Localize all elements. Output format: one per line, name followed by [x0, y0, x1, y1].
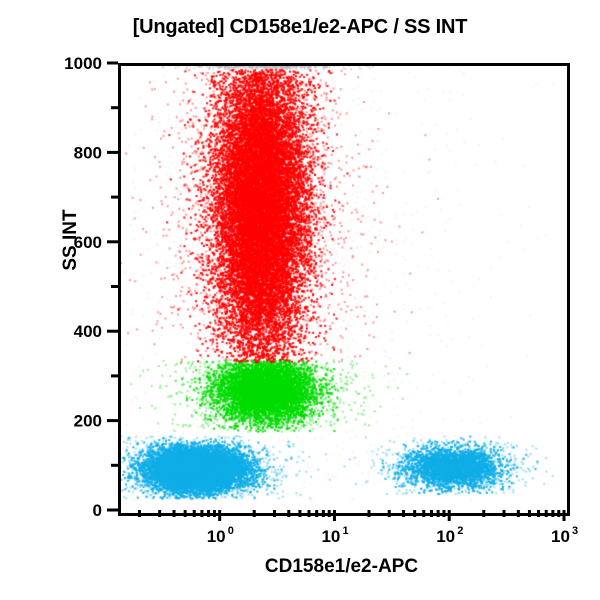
- axes-ticks-and-labels: 02004006008001000 100101102103: [0, 0, 600, 600]
- y-axis-tick-labels: 02004006008001000: [64, 54, 102, 520]
- svg-text:600: 600: [74, 233, 102, 252]
- svg-text:1: 1: [342, 525, 348, 537]
- svg-text:10: 10: [207, 527, 226, 546]
- svg-text:2: 2: [457, 525, 463, 537]
- svg-text:10: 10: [436, 527, 455, 546]
- svg-text:400: 400: [74, 322, 102, 341]
- x-axis-tick-labels: 100101102103: [207, 525, 578, 546]
- svg-text:10: 10: [551, 527, 570, 546]
- svg-text:800: 800: [74, 143, 102, 162]
- svg-text:3: 3: [572, 525, 578, 537]
- x-axis-ticks: [139, 510, 564, 521]
- svg-text:1000: 1000: [64, 54, 102, 73]
- svg-text:200: 200: [74, 412, 102, 431]
- x-axis-label: CD158e1/e2-APC: [118, 556, 565, 578]
- svg-text:0: 0: [93, 501, 102, 520]
- svg-text:0: 0: [228, 525, 234, 537]
- y-axis-ticks: [107, 63, 118, 510]
- flow-cytometry-scatter-figure: [Ungated] CD158e1/e2-APC / SS INT SS INT…: [0, 0, 600, 600]
- svg-text:10: 10: [321, 527, 340, 546]
